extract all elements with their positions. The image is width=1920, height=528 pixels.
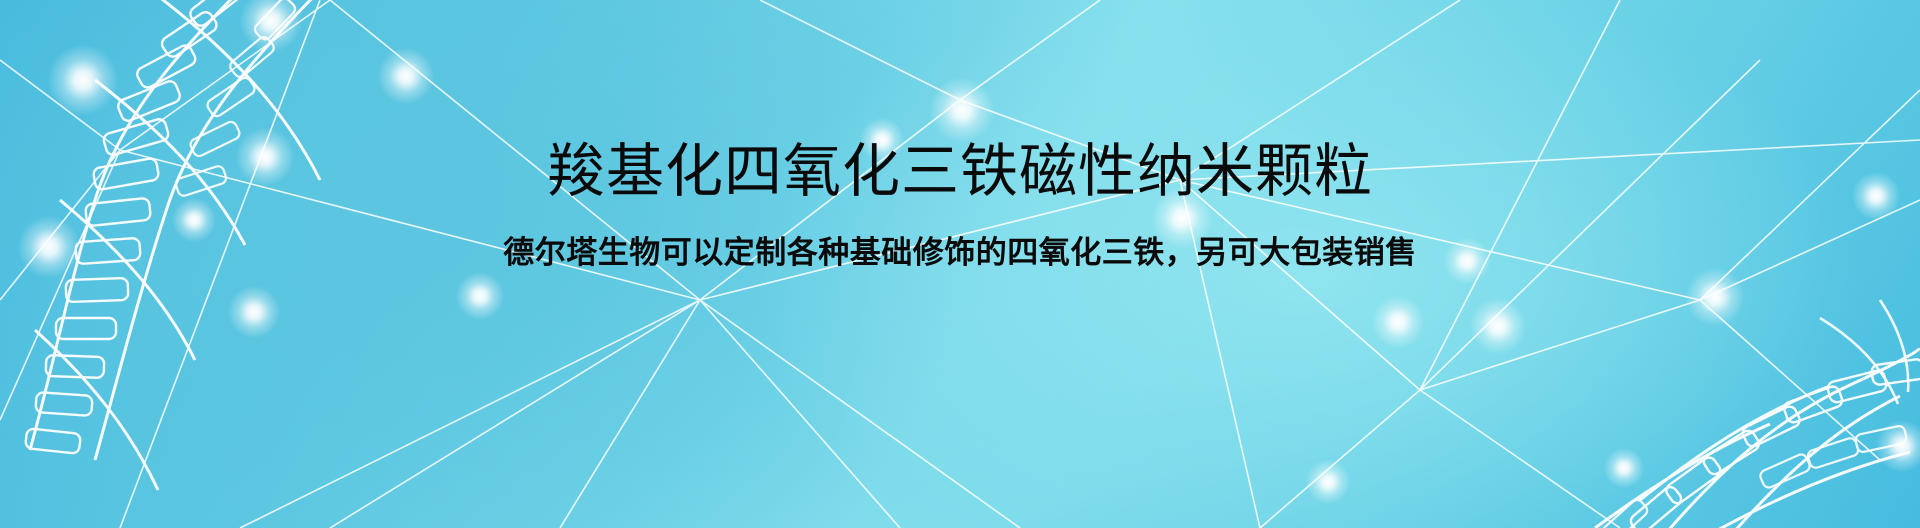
page-title: 羧基化四氧化三铁磁性纳米颗粒 — [547, 143, 1373, 201]
hero-banner: 羧基化四氧化三铁磁性纳米颗粒 德尔塔生物可以定制各种基础修饰的四氧化三铁，另可大… — [0, 0, 1920, 528]
banner-content: 羧基化四氧化三铁磁性纳米颗粒 德尔塔生物可以定制各种基础修饰的四氧化三铁，另可大… — [0, 0, 1920, 528]
page-subtitle: 德尔塔生物可以定制各种基础修饰的四氧化三铁，另可大包装销售 — [503, 237, 1417, 268]
